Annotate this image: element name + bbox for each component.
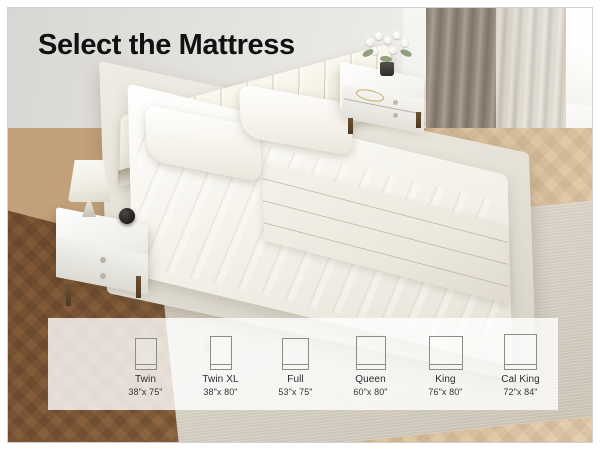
mattress-option-dimensions: 60"x 80" xyxy=(353,386,387,399)
mattress-selector-screen: Select the Mattress Twin38"x 75"Twin XL3… xyxy=(0,0,600,450)
flower-leaf xyxy=(399,48,412,58)
mattress-option-twin-xl[interactable]: Twin XL38"x 80" xyxy=(183,318,258,410)
mattress-icon xyxy=(282,338,309,370)
mattress-option-queen[interactable]: Queen60"x 80" xyxy=(333,318,408,410)
mattress-icon-wrap xyxy=(210,318,232,373)
alarm-clock xyxy=(119,208,135,224)
mattress-size-panel: Twin38"x 75"Twin XL38"x 80"Full53"x 75"Q… xyxy=(48,318,558,410)
mattress-size-options: Twin38"x 75"Twin XL38"x 80"Full53"x 75"Q… xyxy=(108,318,558,410)
mattress-icon xyxy=(504,334,537,370)
nightstand-right-knob-top xyxy=(393,100,398,105)
mattress-option-dimensions: 72"x 84" xyxy=(503,386,537,399)
nightstand-right-leg-b xyxy=(416,112,421,128)
page-title: Select the Mattress xyxy=(38,29,295,62)
mattress-option-label: Queen xyxy=(355,373,386,386)
nightstand-right-leg-a xyxy=(348,118,353,134)
flower-leaf xyxy=(380,55,393,62)
mattress-option-label: King xyxy=(435,373,455,386)
mattress-icon xyxy=(210,336,232,370)
flower-bouquet xyxy=(360,30,416,68)
mattress-option-label: Cal King xyxy=(501,373,540,386)
mattress-icon-wrap xyxy=(282,318,309,373)
flower-petal xyxy=(401,39,409,47)
mattress-option-dimensions: 38"x 75" xyxy=(128,386,162,399)
mattress-option-label: Twin xyxy=(135,373,156,386)
nightstand-left-knob-top xyxy=(100,257,106,263)
flower-petal xyxy=(366,38,374,46)
flower-petal xyxy=(384,36,392,44)
mattress-option-dimensions: 76"x 80" xyxy=(428,386,462,399)
mattress-icon-wrap xyxy=(504,318,537,373)
nightstand-left-leg-a xyxy=(66,284,71,306)
flower-petal xyxy=(389,46,397,54)
nightstand-left-leg-b xyxy=(136,276,141,298)
mattress-icon-wrap xyxy=(356,318,386,373)
table-lamp-shade xyxy=(68,160,110,202)
mattress-option-label: Full xyxy=(287,373,304,386)
mattress-option-label: Twin XL xyxy=(202,373,238,386)
mattress-icon xyxy=(429,336,463,370)
flower-leaf xyxy=(361,48,374,59)
mattress-icon-wrap xyxy=(429,318,463,373)
mattress-option-king[interactable]: King76"x 80" xyxy=(408,318,483,410)
mattress-option-dimensions: 53"x 75" xyxy=(278,386,312,399)
mattress-icon xyxy=(356,336,386,370)
flower-petal xyxy=(375,32,383,40)
mattress-option-cal-king[interactable]: Cal King72"x 84" xyxy=(483,318,558,410)
nightstand-left-knob-bottom xyxy=(100,273,106,279)
mattress-option-twin[interactable]: Twin38"x 75" xyxy=(108,318,183,410)
mattress-icon-wrap xyxy=(135,318,157,373)
mattress-icon xyxy=(135,338,157,370)
mattress-option-dimensions: 38"x 80" xyxy=(203,386,237,399)
mattress-option-full[interactable]: Full53"x 75" xyxy=(258,318,333,410)
nightstand-right-knob-bottom xyxy=(393,113,398,118)
flower-petal xyxy=(393,31,401,39)
